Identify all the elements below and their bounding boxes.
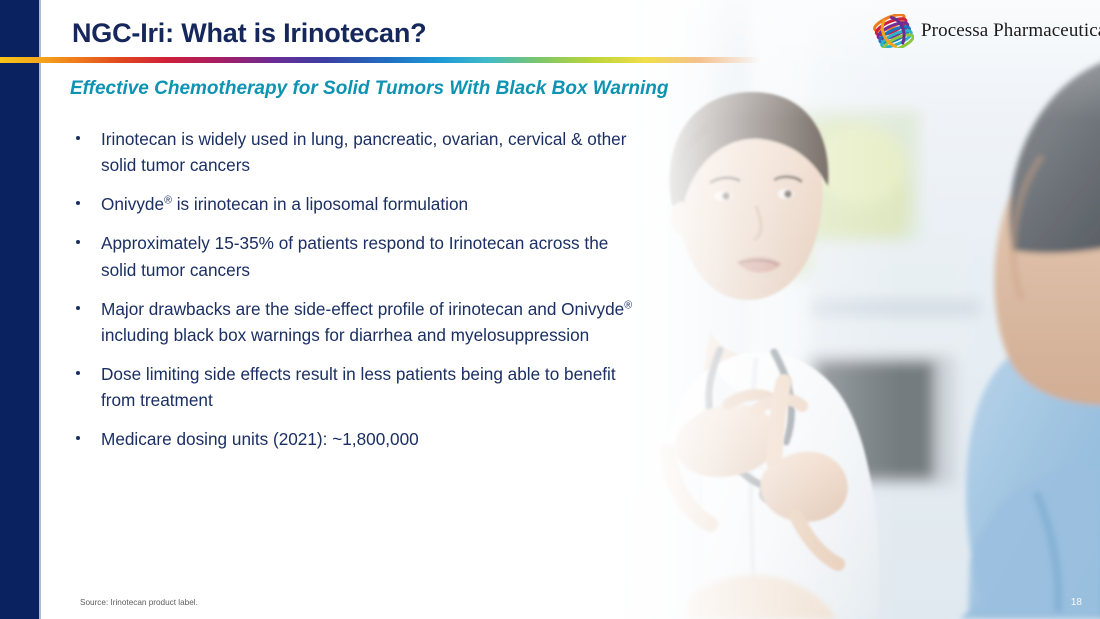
slide: NGC-Iri: What is Irinotecan? Effective C…	[0, 0, 1100, 619]
registered-trademark-symbol: ®	[164, 195, 172, 207]
bullet-dot-icon	[76, 371, 80, 375]
registered-trademark-symbol: ®	[624, 299, 632, 311]
list-item: Dose limiting side effects result in les…	[70, 361, 645, 413]
list-item: Medicare dosing units (2021): ~1,800,000	[70, 426, 645, 452]
source-note: Source: Irinotecan product label.	[80, 598, 198, 607]
bullet-dot-icon	[76, 201, 80, 205]
left-navy-band	[0, 0, 39, 619]
page-subtitle: Effective Chemotherapy for Solid Tumors …	[70, 78, 668, 100]
bullet-text: Approximately 15-35% of patients respond…	[101, 233, 608, 279]
company-logo: Processa Pharmaceuticals	[872, 14, 1100, 48]
bullet-text: Onivyde® is irinotecan in a liposomal fo…	[101, 194, 468, 214]
processa-swirl-icon	[872, 14, 914, 48]
list-item: Approximately 15-35% of patients respond…	[70, 230, 645, 282]
page-number: 18	[1071, 597, 1082, 608]
bullet-dot-icon	[76, 306, 80, 310]
bullet-text: Irinotecan is widely used in lung, pancr…	[101, 129, 626, 175]
list-item: Major drawbacks are the side-effect prof…	[70, 296, 645, 348]
bullet-dot-icon	[76, 136, 80, 140]
company-name: Processa Pharmaceuticals	[921, 20, 1100, 42]
bullet-text: Dose limiting side effects result in les…	[101, 364, 616, 410]
bullet-text: Medicare dosing units (2021): ~1,800,000	[101, 429, 419, 449]
bullet-text: Major drawbacks are the side-effect prof…	[101, 299, 632, 345]
list-item: Irinotecan is widely used in lung, pancr…	[70, 126, 645, 178]
list-item: Onivyde® is irinotecan in a liposomal fo…	[70, 191, 645, 217]
bullet-dot-icon	[76, 436, 80, 440]
rainbow-divider	[0, 57, 760, 63]
bullet-list: Irinotecan is widely used in lung, pancr…	[70, 126, 645, 452]
bullet-dot-icon	[76, 240, 80, 244]
page-title: NGC-Iri: What is Irinotecan?	[72, 18, 426, 49]
left-navy-band-edge	[39, 0, 41, 619]
